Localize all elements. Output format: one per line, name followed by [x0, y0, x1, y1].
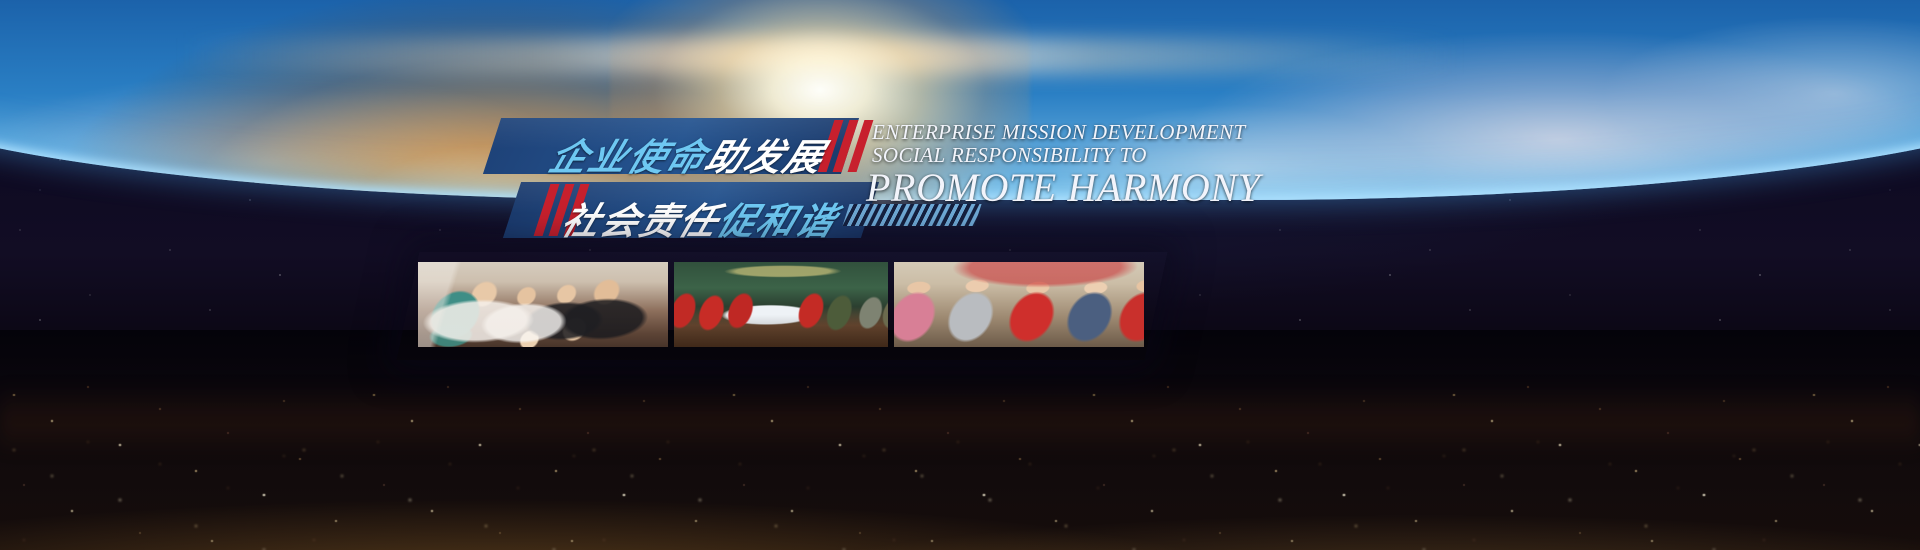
photo-family-group-image: [418, 262, 668, 347]
blue-hatch-decoration: [842, 204, 981, 226]
night-city-background: [0, 330, 1920, 550]
banner-stage: 企业使命助发展 社会责任促和谐 ENTERPRISE MISSION DEVEL…: [0, 0, 1920, 550]
photo-volunteers[interactable]: [894, 262, 1144, 347]
photo-donation-ceremony-image: [674, 262, 888, 347]
city-lights-near: [0, 375, 1920, 550]
headline-chinese-line-1: 企业使命助发展: [543, 127, 834, 181]
photo-strip: [409, 262, 1153, 347]
photo-family-group[interactable]: [418, 262, 668, 347]
headline-line1-highlight: 企业使命: [544, 137, 713, 178]
headline-line2-plain: 社会责任: [556, 201, 725, 242]
photo-volunteers-image: [894, 262, 1144, 347]
headline-chinese-line-2: 社会责任促和谐: [555, 191, 846, 245]
english-subtitle-line-1: ENTERPRISE MISSION DEVELOPMENT: [872, 120, 1246, 145]
headline-line1-plain: 助发展: [700, 137, 830, 178]
headline-line2-highlight: 促和谐: [712, 201, 842, 242]
photo-donation-ceremony[interactable]: [674, 262, 888, 347]
